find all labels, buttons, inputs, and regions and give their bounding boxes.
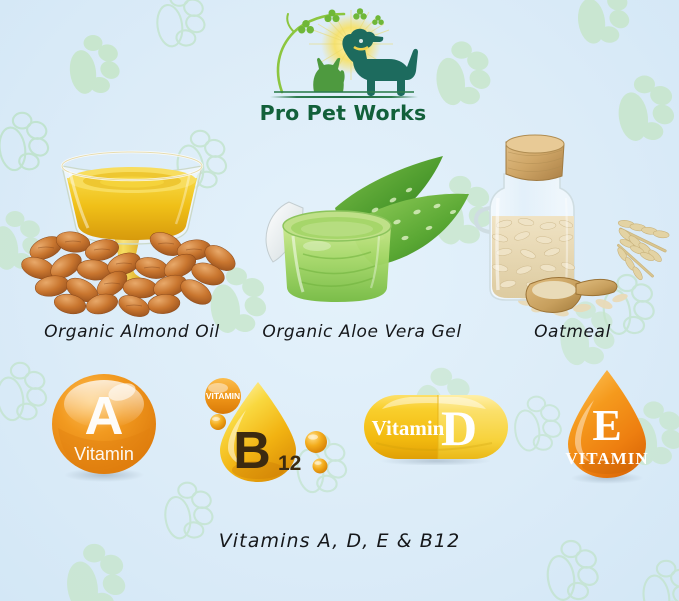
vitamin-a-letter: A: [85, 386, 124, 446]
vitamins-caption: Vitamins A, D, E & B12: [0, 530, 679, 552]
vitamin-e-word: VITAMIN: [565, 449, 648, 468]
ingredient-label: Oatmeal: [470, 322, 675, 342]
vitamin-b12-letter: B: [233, 422, 271, 480]
ingredient-almond-oil: Organic Almond Oil: [18, 132, 246, 347]
vitamin-a-badge: A Vitamin: [48, 372, 160, 482]
mini-droplet-icon: [305, 431, 327, 453]
vitamin-d-badge: Vitamin D: [362, 393, 510, 465]
ingredient-label: Organic Aloe Vera Gel: [247, 322, 477, 342]
paw-print-icon: [62, 30, 134, 102]
vitamin-b12-subscript: 12: [278, 452, 301, 475]
vitamin-b12-badge: VITAMIN B 12: [196, 376, 344, 486]
brand-logo: Pro Pet Works: [248, 8, 438, 126]
mini-droplet-icon: [210, 414, 226, 430]
dog-icon: [342, 29, 418, 96]
aloe-vera-jar-image: [247, 150, 477, 326]
ingredient-oatmeal: Oatmeal: [470, 132, 675, 347]
paw-print-icon: [428, 36, 506, 114]
vitamin-b12-word: VITAMIN: [206, 391, 240, 401]
almond-oil-bowl-image: [18, 132, 246, 326]
vitamin-e-badge: E VITAMIN: [552, 368, 662, 484]
vitamin-d-word: Vitamin: [372, 416, 445, 440]
paw-print-icon: [150, 0, 218, 54]
product-infographic: Pro Pet Works: [0, 0, 679, 601]
vitamin-d-letter: D: [441, 400, 477, 456]
logo-divider: [270, 96, 418, 98]
brand-name: Pro Pet Works: [248, 100, 438, 126]
oatmeal-jar-image: [470, 132, 675, 326]
logo-artwork: [248, 8, 438, 98]
ingredient-aloe-vera-gel: Organic Aloe Vera Gel: [247, 150, 477, 347]
paw-print-icon: [570, 0, 644, 52]
paw-print-icon: [636, 556, 679, 601]
wheat-icon: [608, 210, 675, 287]
mini-droplet-icon: [313, 459, 328, 474]
ingredient-label: Organic Almond Oil: [18, 322, 246, 342]
vitamin-e-letter: E: [592, 401, 621, 450]
vitamin-a-word: Vitamin: [74, 444, 134, 464]
